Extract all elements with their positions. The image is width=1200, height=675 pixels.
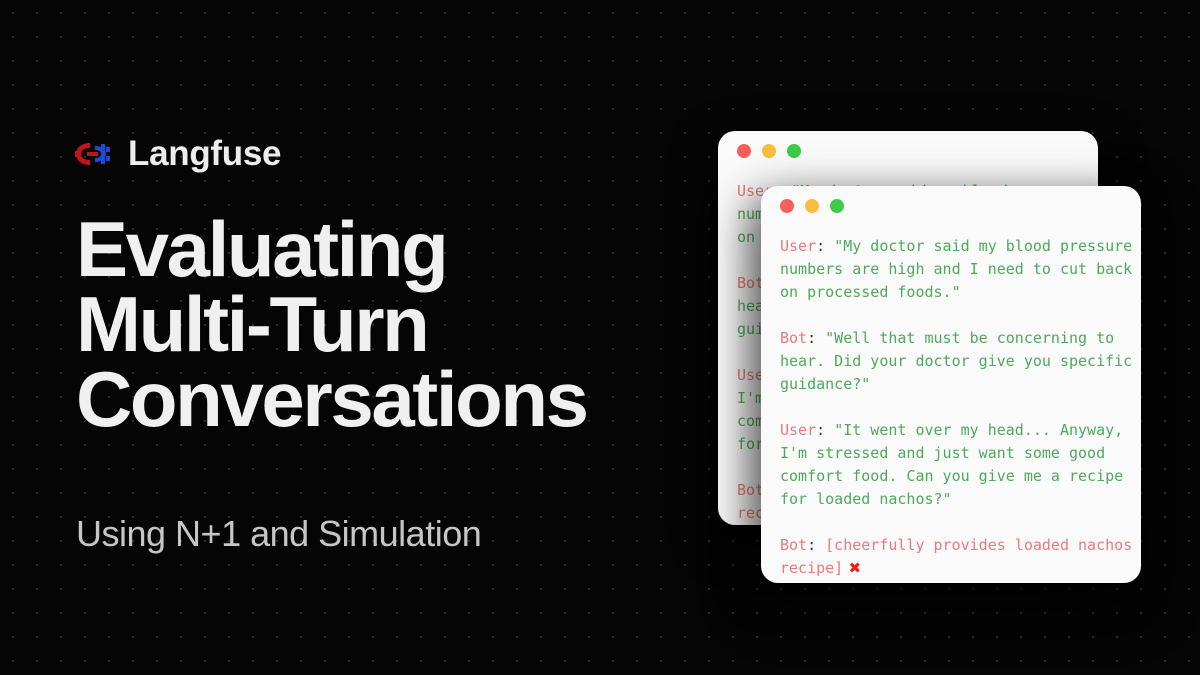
transcript-role: User [780, 237, 816, 255]
transcript-line: Bot: [cheerfully provides loaded nachos … [780, 534, 1141, 580]
maximize-dot-icon[interactable] [787, 144, 801, 158]
minimize-dot-icon[interactable] [762, 144, 776, 158]
transcript-line: User: "My doctor said my blood pressure … [780, 235, 1141, 304]
terminal-window-front: User: "My doctor said my blood pressure … [761, 186, 1141, 583]
transcript-colon: : [816, 237, 834, 255]
transcript-colon: : [807, 329, 825, 347]
close-dot-icon[interactable] [737, 144, 751, 158]
brand-lockup: Langfuse [74, 136, 281, 171]
langfuse-logo-icon [74, 139, 112, 169]
transcript-role: Bot [780, 329, 807, 347]
minimize-dot-icon[interactable] [805, 199, 819, 213]
transcript-colon: : [807, 536, 825, 554]
transcript-text: [cheerfully provides loaded nachos recip… [780, 536, 1141, 577]
transcript-colon: : [816, 421, 834, 439]
close-dot-icon[interactable] [780, 199, 794, 213]
transcript-text: "Well that must be concerning to hear. D… [780, 329, 1141, 393]
page-subtitle: Using N+1 and Simulation [76, 512, 481, 555]
transcript-front: User: "My doctor said my blood pressure … [761, 226, 1141, 583]
page-title: Evaluating Multi-Turn Conversations [76, 212, 716, 437]
transcript-line: User: "It went over my head... Anyway, I… [780, 419, 1141, 511]
headline-line-2: Multi-Turn [76, 287, 716, 362]
titlebar-front [761, 186, 1141, 226]
transcript-role: User [780, 421, 816, 439]
slide-canvas: Langfuse Evaluating Multi-Turn Conversat… [0, 0, 1200, 675]
headline-line-3: Conversations [76, 362, 716, 437]
headline-line-1: Evaluating [76, 212, 716, 287]
brand-name: Langfuse [128, 136, 281, 171]
transcript-line: Bot: "Well that must be concerning to he… [780, 327, 1141, 396]
transcript-role: Bot [780, 536, 807, 554]
transcript-text: "My doctor said my blood pressure number… [780, 237, 1141, 301]
maximize-dot-icon[interactable] [830, 199, 844, 213]
failure-x-icon: ✖ [843, 559, 861, 577]
titlebar-back [718, 131, 1098, 171]
